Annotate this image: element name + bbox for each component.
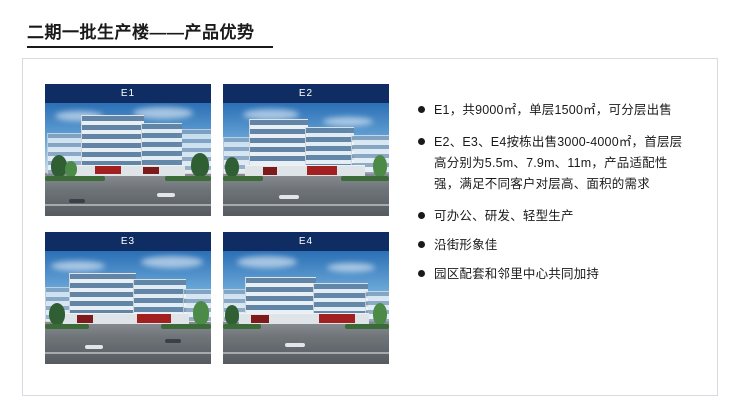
cloud	[51, 261, 105, 271]
car	[85, 345, 103, 349]
cloud	[237, 256, 297, 268]
tree	[373, 155, 387, 177]
tree	[373, 303, 387, 325]
bullet-list: E1，共9000㎡，单层1500㎡，可分层出售 E2、E3、E4按栋出售3000…	[418, 100, 688, 293]
photo-card-e4[interactable]: E4	[223, 232, 389, 364]
car	[157, 193, 175, 197]
road-marking	[45, 352, 211, 354]
slide-root: 二期一批生产楼——产品优势 E1	[0, 0, 740, 413]
bullet-item: E2、E3、E4按栋出售3000-4000㎡，首层层高分别为5.5m、7.9m、…	[418, 132, 688, 195]
tree	[225, 157, 239, 177]
tree	[191, 153, 209, 177]
hedge	[223, 176, 263, 181]
storefront	[143, 167, 159, 174]
bullet-text: E2、E3、E4按栋出售3000-4000㎡，首层层高分别为5.5m、7.9m、…	[434, 132, 688, 195]
bullet-text: 可办公、研发、轻型生产	[434, 206, 574, 227]
bullet-dot-icon	[418, 270, 425, 277]
photo-grid: E1	[45, 84, 390, 364]
tree	[193, 301, 209, 325]
hedge	[45, 176, 105, 181]
storefront	[263, 167, 277, 175]
road-marking	[45, 204, 211, 206]
photo-label-e1: E1	[45, 84, 211, 103]
bullet-dot-icon	[418, 106, 425, 113]
bullet-item: 园区配套和邻里中心共同加持	[418, 264, 688, 285]
hedge	[165, 176, 211, 181]
car	[279, 195, 299, 199]
photo-card-e2[interactable]: E2	[223, 84, 389, 216]
bullet-text: E1，共9000㎡，单层1500㎡，可分层出售	[434, 100, 672, 121]
car	[69, 199, 85, 203]
photo-image-e4	[223, 251, 389, 364]
car	[165, 339, 181, 343]
storefront	[307, 166, 337, 175]
hedge	[345, 324, 389, 329]
bullet-dot-icon	[418, 212, 425, 219]
bullet-text: 园区配套和邻里中心共同加持	[434, 264, 599, 285]
road-marking	[223, 204, 389, 206]
bullet-dot-icon	[418, 138, 425, 145]
photo-image-e1	[45, 103, 211, 216]
slide-title-area: 二期一批生产楼——产品优势	[0, 18, 740, 52]
photo-card-e3[interactable]: E3	[45, 232, 211, 364]
bullet-dot-icon	[418, 241, 425, 248]
bullet-item: 沿街形象佳	[418, 235, 688, 256]
bullet-item: 可办公、研发、轻型生产	[418, 206, 688, 227]
car	[285, 343, 305, 347]
storefront	[95, 166, 121, 174]
bullet-text: 沿街形象佳	[434, 235, 498, 256]
photo-card-e1[interactable]: E1	[45, 84, 211, 216]
tree	[49, 303, 65, 325]
storefront	[137, 314, 171, 323]
hedge	[341, 176, 389, 181]
storefront	[77, 315, 93, 323]
page-title: 二期一批生产楼——产品优势	[27, 18, 255, 43]
photo-image-e3	[45, 251, 211, 364]
photo-label-e3: E3	[45, 232, 211, 251]
podium	[75, 165, 185, 176]
cloud	[141, 256, 203, 268]
title-underline	[27, 46, 273, 48]
photo-image-e2	[223, 103, 389, 216]
photo-label-e2: E2	[223, 84, 389, 103]
tree	[225, 305, 239, 325]
road-marking	[223, 352, 389, 354]
cloud	[323, 117, 373, 126]
hedge	[45, 324, 89, 329]
cloud	[327, 263, 375, 272]
hedge	[223, 324, 261, 329]
storefront	[251, 315, 269, 323]
tree	[65, 161, 77, 177]
hedge	[161, 324, 211, 329]
bullet-item: E1，共9000㎡，单层1500㎡，可分层出售	[418, 100, 688, 121]
photo-label-e4: E4	[223, 232, 389, 251]
storefront	[319, 314, 355, 323]
